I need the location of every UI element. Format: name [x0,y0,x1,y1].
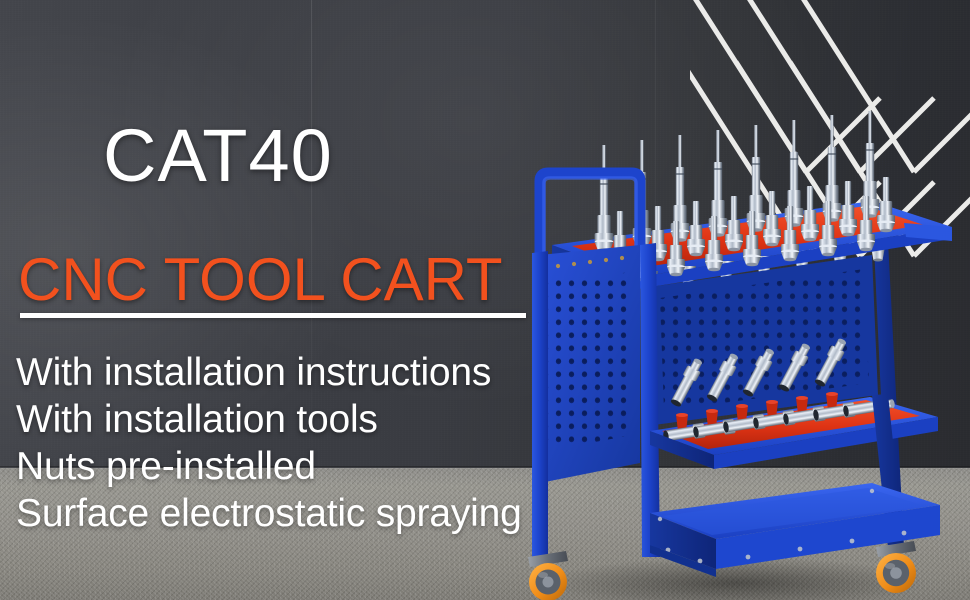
feature-list-item: With installation instructions [16,349,636,396]
page-title-headline: CAT40 [103,119,333,193]
product-banner: CAT40 CNC TOOL CART With installation in… [0,0,970,600]
product-name-subheadline: CNC TOOL CART [18,250,503,310]
caster-rear-left [528,551,568,600]
caster-rear-right [876,541,916,593]
title-underline-rule [20,313,526,318]
feature-list: With installation instructions With inst… [16,349,636,537]
feature-list-item: With installation tools [16,396,636,443]
feature-list-item: Surface electrostatic spraying [16,490,636,537]
feature-list-item: Nuts pre-installed [16,443,636,490]
